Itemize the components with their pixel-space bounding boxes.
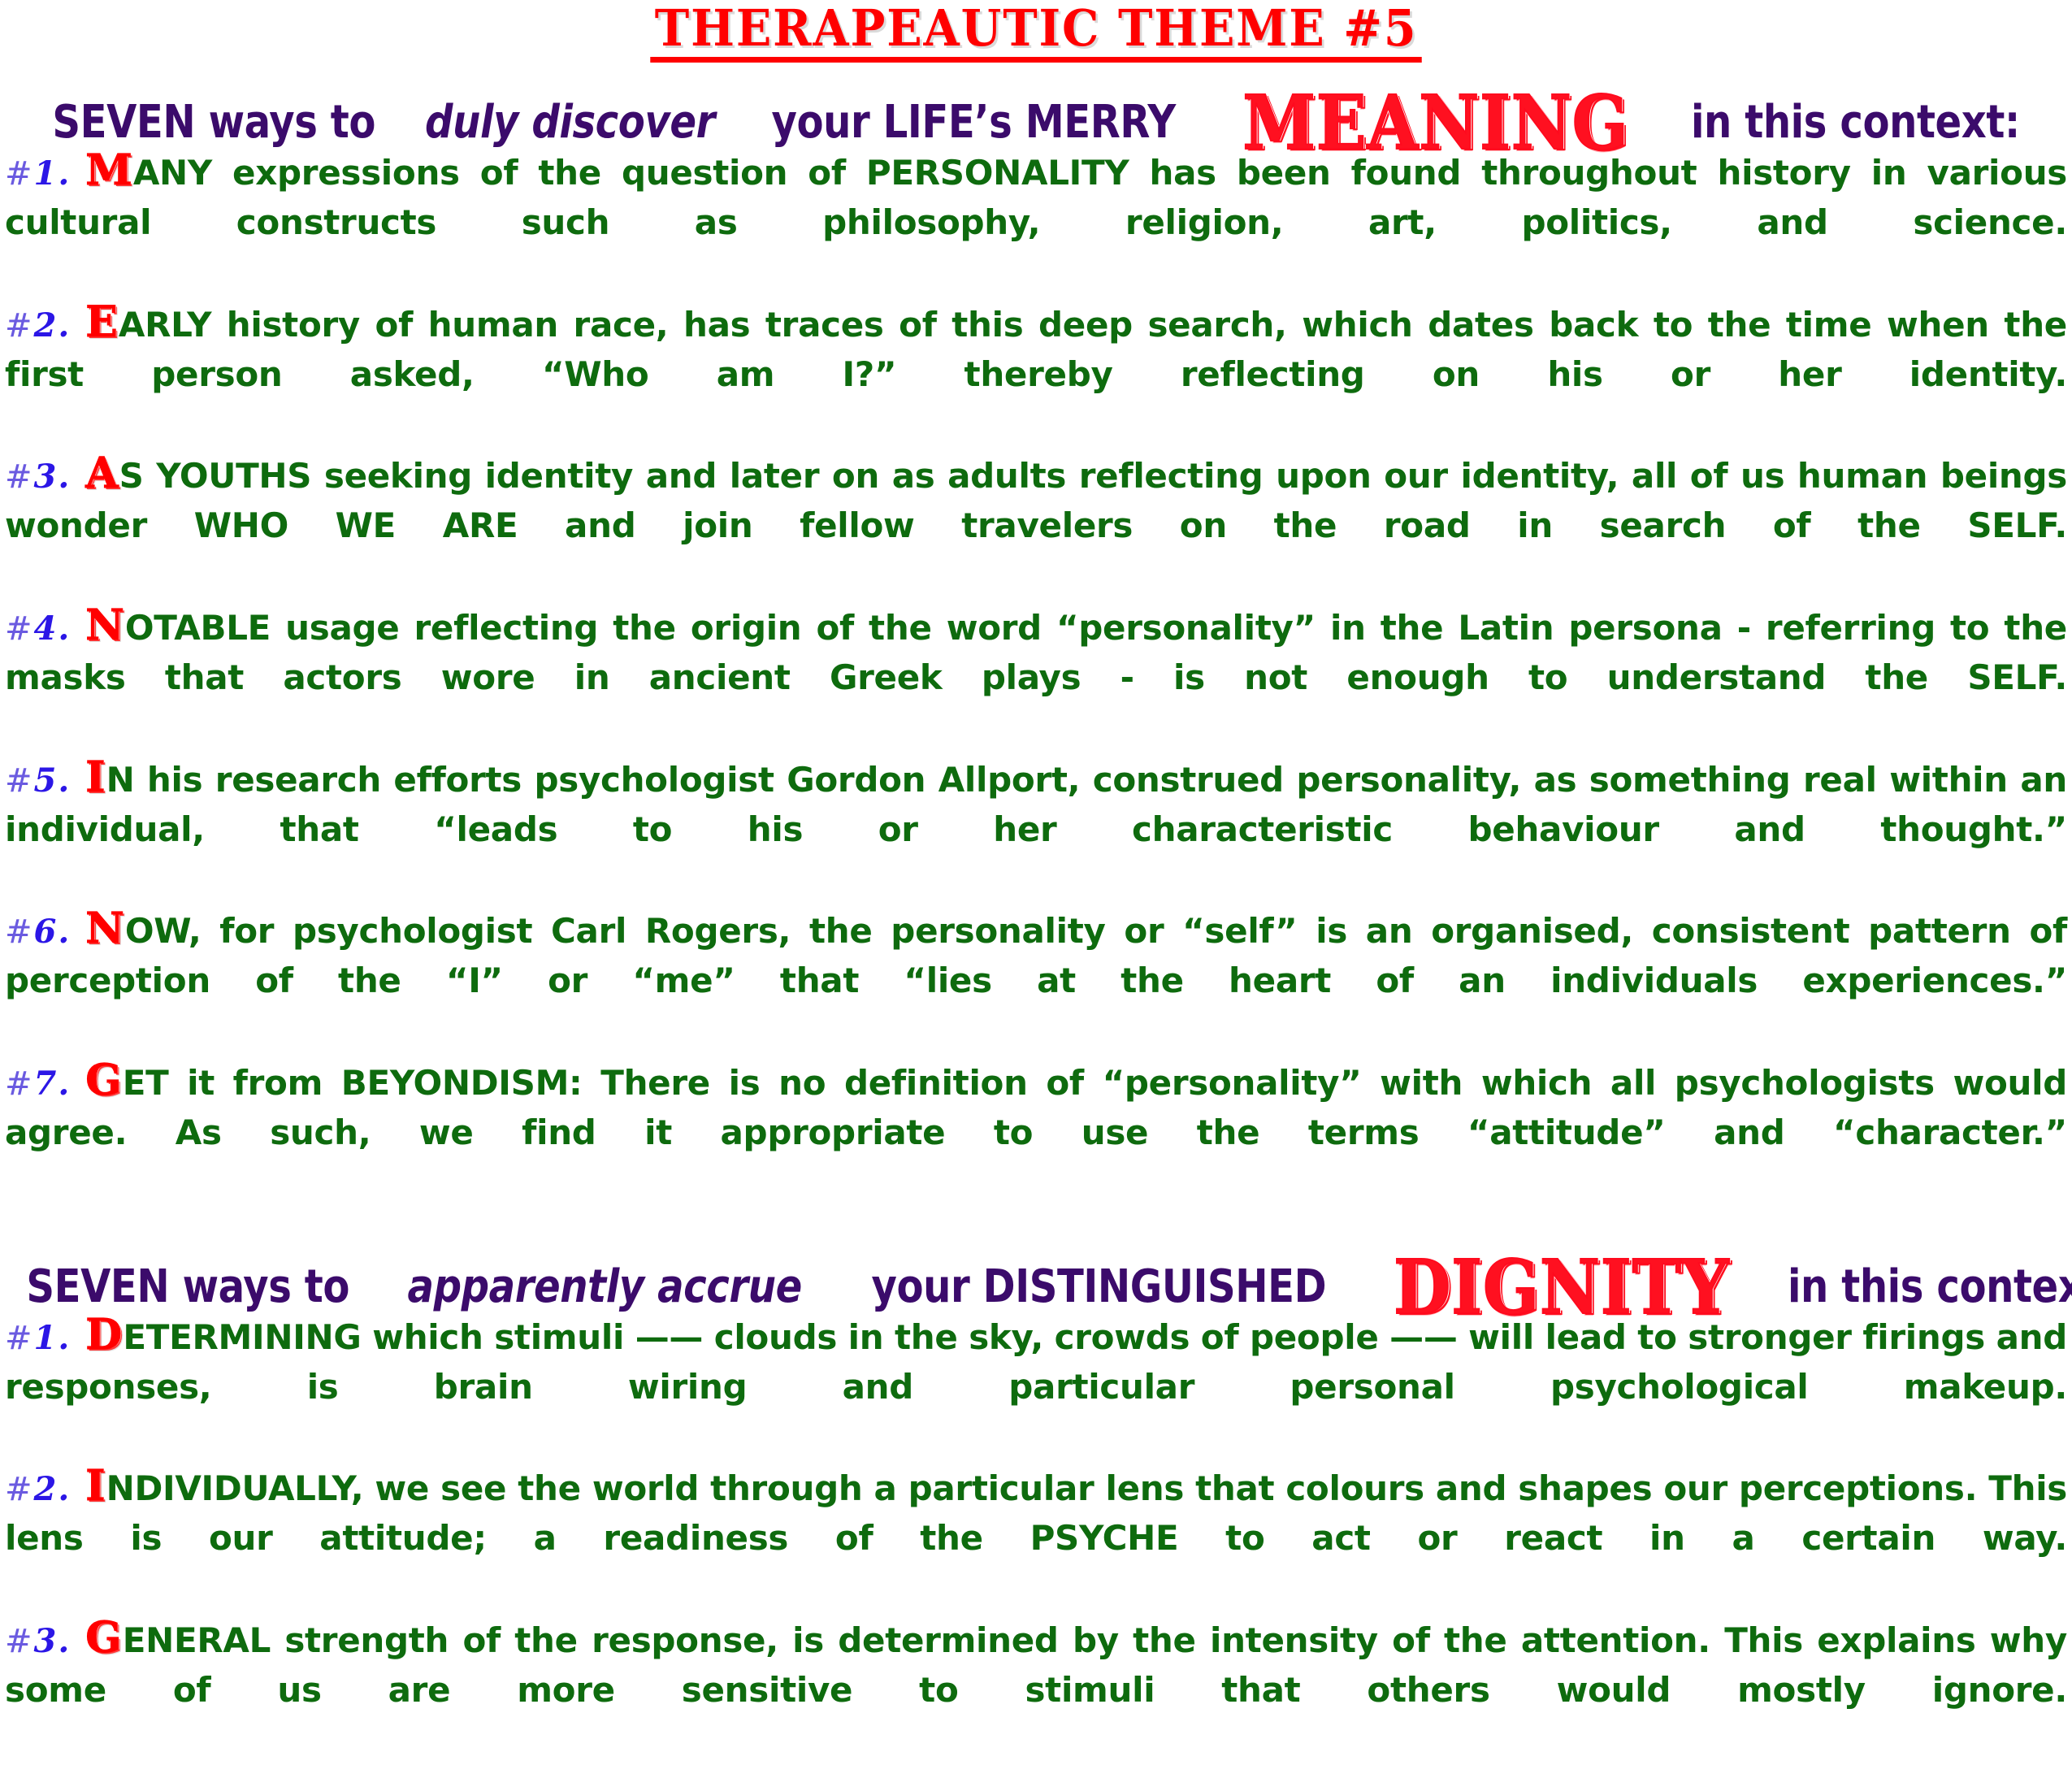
drop-cap: I (85, 1461, 105, 1511)
list-marker: #3. (5, 458, 71, 496)
header-mid-text: your LIFE’s MERRY (772, 100, 1176, 145)
header-italic-text: duly discover (425, 100, 715, 145)
list-item: #3.GENERAL strength of the response, is … (5, 1616, 2067, 1765)
marker-hash: # (5, 1065, 34, 1103)
marker-number: 3. (34, 1622, 72, 1660)
drop-cap: N (85, 601, 124, 650)
list-item-text: ARLY history of human race, has traces o… (5, 305, 2067, 394)
section-header-dignity: SEVEN ways to apparently accrue your DIS… (0, 1238, 2072, 1313)
header-mid-text: your DISTINGUISHED (871, 1264, 1326, 1310)
header-italic-text: apparently accrue (408, 1264, 802, 1310)
marker-hash: # (5, 1471, 34, 1508)
marker-hash: # (5, 610, 34, 648)
list-marker: #1. (5, 154, 71, 193)
list-item-text: OW, for psychologist Carl Rogers, the pe… (5, 911, 2067, 1000)
document-title-area: THERAPEAUTIC THEME #5 (0, 0, 2072, 63)
list-item: #5.IN his research efforts psychologist … (5, 756, 2067, 904)
marker-hash: # (5, 913, 34, 951)
marker-number: 5. (34, 761, 72, 800)
marker-hash: # (5, 1623, 34, 1660)
list-marker: #2. (5, 306, 71, 345)
list-item: #2.EARLY history of human race, has trac… (5, 301, 2067, 449)
list-item-text: NDIVIDUALLY, we see the world through a … (5, 1468, 2067, 1558)
marker-number: 3. (34, 458, 72, 496)
list-marker: #1. (5, 1319, 71, 1357)
section-header-meaning: SEVEN ways to duly discover your LIFE’s … (0, 74, 2072, 149)
section-spacer (0, 1211, 2072, 1238)
list-item-text: N his research efforts psychologist Gord… (5, 760, 2067, 849)
list-item: #3.AS YOUTHS seeking identity and later … (5, 452, 2067, 601)
marker-hash: # (5, 762, 34, 800)
list-section-dignity: #1.DETERMINING which stimuli —— clouds i… (0, 1313, 2072, 1765)
drop-cap: G (85, 1613, 121, 1663)
list-section-meaning: #1.MANY expressions of the question of P… (0, 149, 2072, 1208)
drop-cap: E (85, 297, 118, 347)
list-item: #1.DETERMINING which stimuli —— clouds i… (5, 1313, 2067, 1462)
list-item-text: OTABLE usage reflecting the origin of th… (5, 608, 2067, 697)
drop-cap: M (85, 145, 132, 195)
bigword-meaning: MEANING (1243, 85, 1629, 160)
header-tail-text: in this context: (1788, 1264, 2072, 1310)
marker-number: 1. (34, 154, 72, 193)
page-title: THERAPEAUTIC THEME #5 (650, 3, 1422, 63)
marker-hash: # (5, 458, 34, 496)
list-item-text: ETERMINING which stimuli —— clouds in th… (5, 1317, 2067, 1407)
list-marker: #6. (5, 913, 71, 951)
list-item: #2.INDIVIDUALLY, we see the world throug… (5, 1464, 2067, 1613)
drop-cap: G (85, 1056, 121, 1105)
marker-hash: # (5, 155, 34, 193)
list-item-text: ENERAL strength of the response, is dete… (5, 1620, 2067, 1710)
marker-number: 1. (34, 1319, 72, 1357)
drop-cap: I (85, 752, 105, 802)
header-lead-text: SEVEN ways to (26, 1264, 349, 1310)
drop-cap: D (85, 1310, 122, 1360)
list-item: #6.NOW, for psychologist Carl Rogers, th… (5, 907, 2067, 1056)
list-marker: #4. (5, 609, 71, 648)
bigword-dignity: DIGNITY (1394, 1250, 1730, 1325)
header-tail-text: in this context: (1691, 100, 2020, 145)
list-marker: #2. (5, 1470, 71, 1508)
marker-number: 4. (34, 609, 72, 648)
list-item-text: ANY expressions of the question of PERSO… (5, 153, 2067, 242)
marker-number: 6. (34, 913, 72, 951)
marker-number: 2. (34, 1470, 72, 1508)
drop-cap: A (85, 449, 118, 498)
list-marker: #3. (5, 1622, 71, 1660)
marker-hash: # (5, 1320, 34, 1357)
list-item-text: ET it from BEYONDISM: There is no defini… (5, 1063, 2067, 1152)
list-item: #1.MANY expressions of the question of P… (5, 149, 2067, 297)
marker-number: 7. (34, 1065, 72, 1103)
list-marker: #5. (5, 761, 71, 800)
list-item: #4.NOTABLE usage reflecting the origin o… (5, 604, 2067, 752)
list-item: #7.GET it from BEYONDISM: There is no de… (5, 1059, 2067, 1208)
list-item-text: S YOUTHS seeking identity and later on a… (5, 456, 2067, 545)
drop-cap: N (85, 904, 124, 953)
header-lead-text: SEVEN ways to (52, 100, 375, 145)
marker-number: 2. (34, 306, 72, 345)
marker-hash: # (5, 307, 34, 345)
list-marker: #7. (5, 1065, 71, 1103)
